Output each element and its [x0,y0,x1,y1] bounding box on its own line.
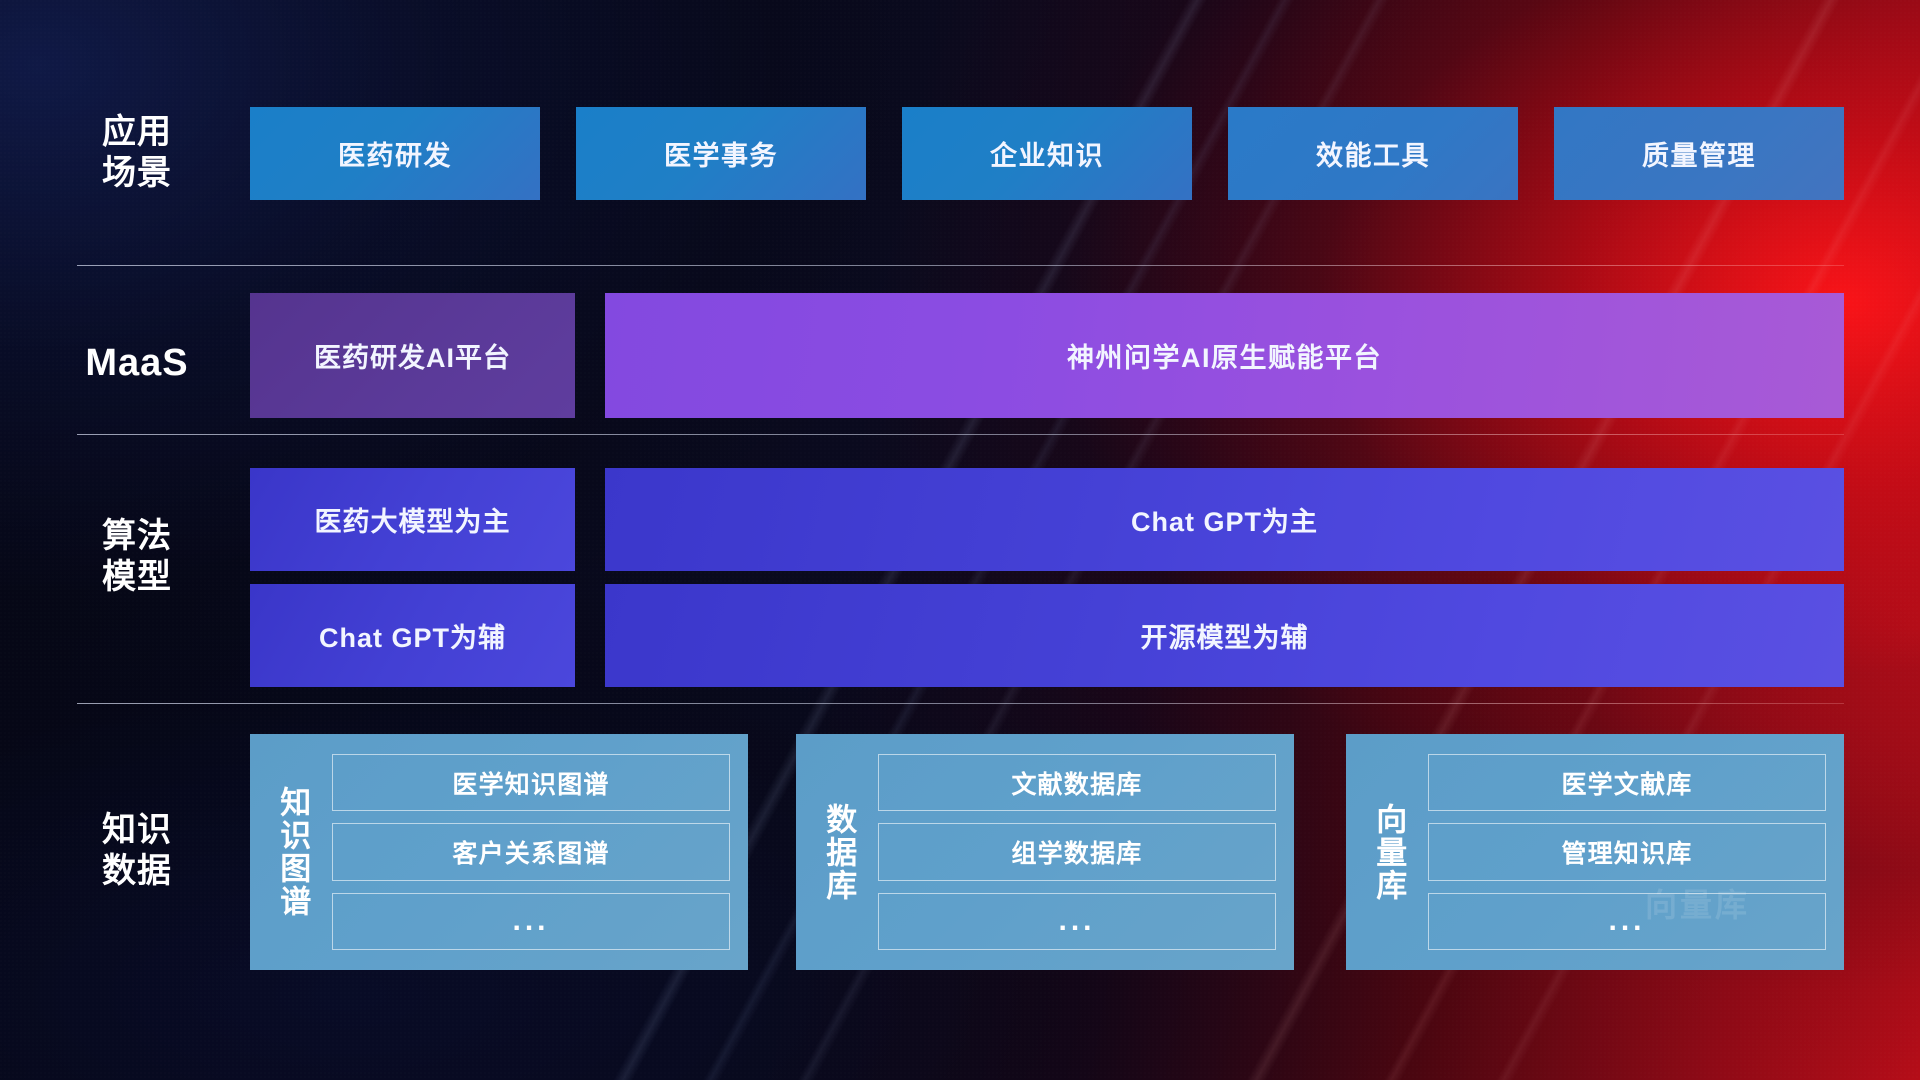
knowledge-group-graph-title: 知识图谱 [266,786,318,918]
architecture-diagram: 应用 场景 医药研发 医学事务 企业知识 效能工具 质量管理 MaaS 医药研发… [0,0,1920,1080]
row-label-maas: MaaS [77,340,197,386]
app-box-quality-management[interactable]: 质量管理 [1554,107,1844,200]
knowledge-item-customer-graph[interactable]: 客户关系图谱 [332,823,730,880]
app-box-efficiency-tools[interactable]: 效能工具 [1228,107,1518,200]
divider-application-maas [77,265,1844,266]
algo-box-chatgpt-primary[interactable]: Chat GPT为主 [605,468,1844,571]
app-box-enterprise-knowledge[interactable]: 企业知识 [902,107,1192,200]
divider-maas-algorithm [77,434,1844,435]
knowledge-group-graph-items: 医学知识图谱 客户关系图谱 ... [332,748,730,956]
algo-box-medicine-large-model-primary[interactable]: 医药大模型为主 [250,468,575,571]
knowledge-group-database[interactable]: 数据库 文献数据库 组学数据库 ... [796,734,1294,970]
app-box-medicine-rd[interactable]: 医药研发 [250,107,540,200]
algo-box-opensource-model-secondary[interactable]: 开源模型为辅 [605,584,1844,687]
knowledge-item-medical-graph[interactable]: 医学知识图谱 [332,754,730,811]
knowledge-group-database-title: 数据库 [812,803,864,902]
algo-box-chatgpt-secondary[interactable]: Chat GPT为辅 [250,584,575,687]
knowledge-group-vector-store-items: 医学文献库 管理知识库 ... [1428,748,1826,956]
divider-algorithm-knowledge [77,703,1844,704]
row-label-knowledge-data: 知识 数据 [77,810,197,893]
knowledge-group-vector-store-title: 向量库 [1362,803,1414,902]
knowledge-group-vector-store[interactable]: 向量库 医学文献库 管理知识库 ... [1346,734,1844,970]
knowledge-item-management-knowledge-store[interactable]: 管理知识库 [1428,823,1826,880]
knowledge-item-database-more[interactable]: ... [878,893,1276,950]
knowledge-item-vector-store-more[interactable]: ... [1428,893,1826,950]
knowledge-group-database-items: 文献数据库 组学数据库 ... [878,748,1276,956]
row-label-algorithm-model: 算法 模型 [77,516,197,599]
maas-box-shenzhou-wenxue-platform[interactable]: 神州问学AI原生赋能平台 [605,293,1844,418]
knowledge-group-graph[interactable]: 知识图谱 医学知识图谱 客户关系图谱 ... [250,734,748,970]
maas-box-medicine-rd-ai-platform[interactable]: 医药研发AI平台 [250,293,575,418]
knowledge-item-literature-db[interactable]: 文献数据库 [878,754,1276,811]
app-box-medical-affairs[interactable]: 医学事务 [576,107,866,200]
knowledge-item-graph-more[interactable]: ... [332,893,730,950]
knowledge-item-medical-literature-store[interactable]: 医学文献库 [1428,754,1826,811]
row-label-application-scenarios: 应用 场景 [77,112,197,195]
knowledge-item-omics-db[interactable]: 组学数据库 [878,823,1276,880]
